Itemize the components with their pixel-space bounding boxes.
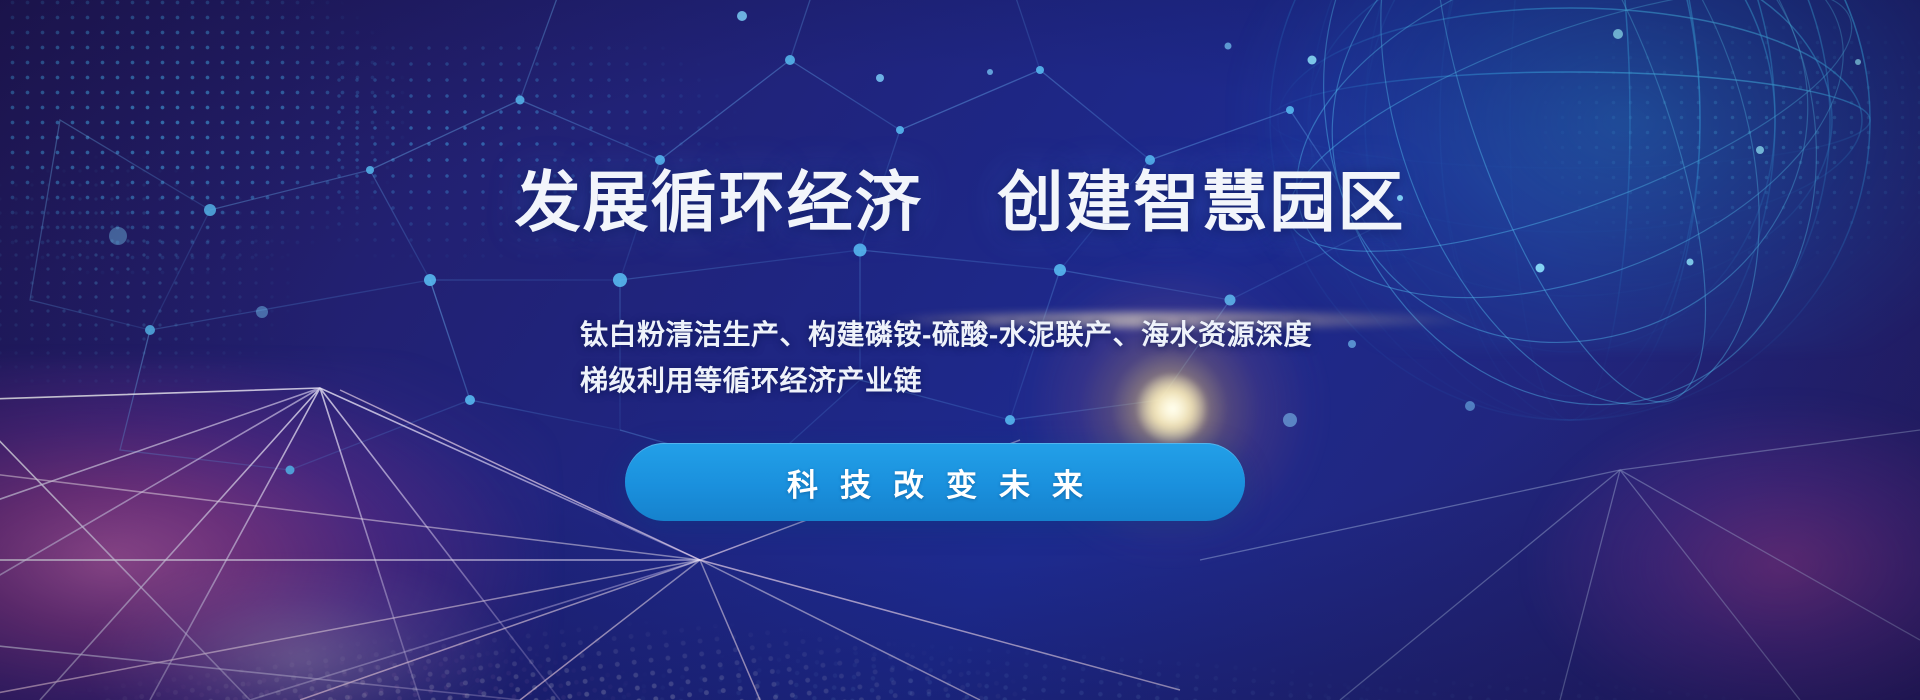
cta-button-label: 科技改变未来 [765, 460, 1105, 505]
banner-subtitle: 钛白粉清洁生产、构建磷铵-硫酸-水泥联产、海水资源深度 梯级利用等循环经济产业链 [0, 312, 1920, 404]
banner-content: 发展循环经济 创建智慧园区 钛白粉清洁生产、构建磷铵-硫酸-水泥联产、海水资源深… [0, 0, 1920, 700]
subtitle-line-2: 梯级利用等循环经济产业链 [580, 358, 1340, 404]
headline-part-2: 创建智慧园区 [997, 165, 1405, 239]
hero-banner: 发展循环经济 创建智慧园区 钛白粉清洁生产、构建磷铵-硫酸-水泥联产、海水资源深… [0, 0, 1920, 700]
subtitle-wrapper: 钛白粉清洁生产、构建磷铵-硫酸-水泥联产、海水资源深度 梯级利用等循环经济产业链 [580, 312, 1340, 404]
headline-part-1: 发展循环经济 [515, 165, 923, 239]
cta-button[interactable]: 科技改变未来 [625, 443, 1245, 521]
banner-headline: 发展循环经济 创建智慧园区 [0, 168, 1920, 238]
subtitle-line-1: 钛白粉清洁生产、构建磷铵-硫酸-水泥联产、海水资源深度 [580, 312, 1340, 358]
